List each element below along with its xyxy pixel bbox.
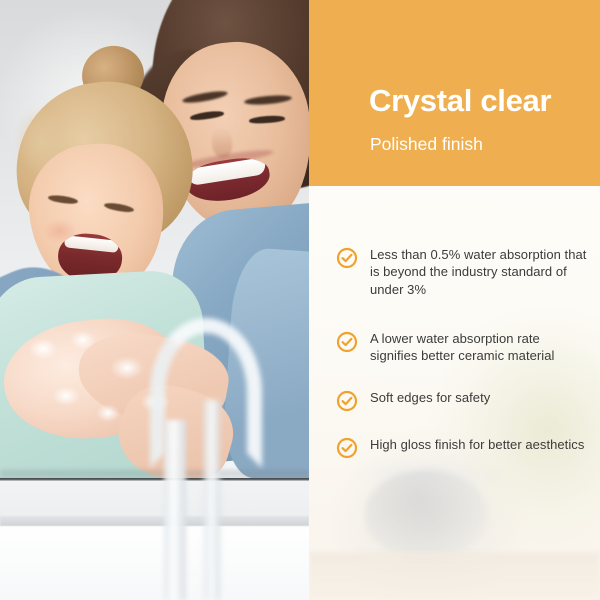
counter-edge: [0, 516, 309, 526]
product-feature-banner: Crystal clear Polished finish Less than …: [0, 0, 600, 600]
soap-suds: [52, 386, 80, 406]
faucet-stem: [164, 420, 186, 600]
sink-counter: [0, 478, 309, 600]
check-circle-icon: [336, 247, 358, 269]
lifestyle-photo: [0, 0, 309, 600]
list-item: High gloss finish for better aesthetics: [336, 436, 588, 459]
list-item: Soft edges for safety: [336, 389, 588, 412]
list-item: A lower water absorption rate signifies …: [336, 330, 588, 365]
soap-suds: [28, 338, 58, 360]
background-counter: [309, 552, 600, 600]
feature-text: A lower water absorption rate signifies …: [370, 330, 588, 365]
check-circle-icon: [336, 437, 358, 459]
list-item: Less than 0.5% water absorption that is …: [336, 246, 588, 298]
feature-text: Less than 0.5% water absorption that is …: [370, 246, 588, 298]
feature-text: High gloss finish for better aesthetics: [370, 436, 584, 453]
soap-suds: [96, 404, 120, 422]
page-title: Crystal clear: [369, 85, 551, 116]
header-band: Crystal clear Polished finish: [309, 0, 600, 186]
soap-suds: [70, 330, 96, 350]
background-basin: [365, 470, 487, 556]
feature-text: Soft edges for safety: [370, 389, 490, 406]
soap-suds: [110, 356, 144, 380]
info-panel: Crystal clear Polished finish Less than …: [309, 0, 600, 600]
page-subtitle: Polished finish: [370, 136, 483, 154]
check-circle-icon: [336, 390, 358, 412]
check-circle-icon: [336, 331, 358, 353]
faucet-stem-secondary: [204, 400, 220, 600]
